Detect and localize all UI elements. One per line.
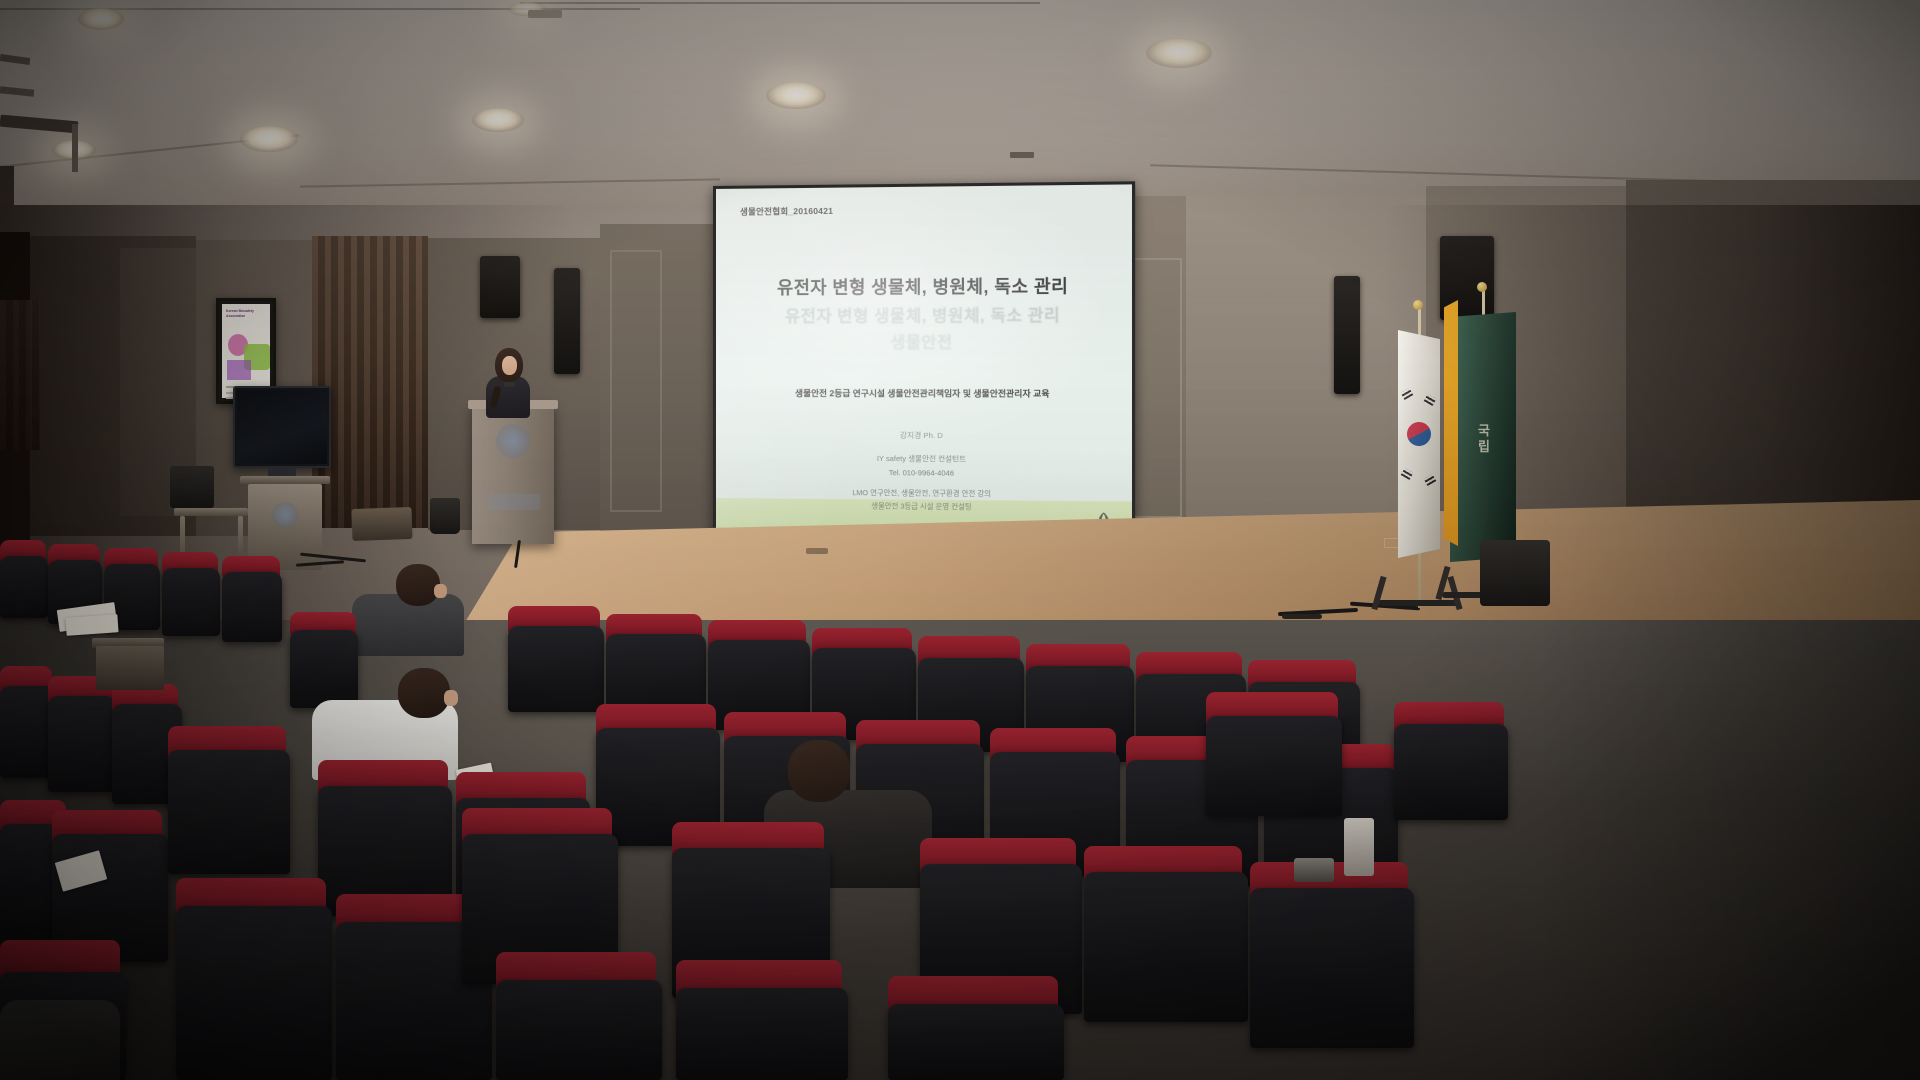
seat-back bbox=[48, 696, 116, 792]
audience-head bbox=[788, 740, 850, 802]
seat-back bbox=[1206, 716, 1342, 816]
right-equipment bbox=[1480, 540, 1550, 606]
equipment-case bbox=[351, 507, 412, 541]
seat-back bbox=[1250, 888, 1414, 1048]
organization-flag-finial bbox=[1477, 282, 1487, 292]
slide-title: 유전자 변형 생물체, 병원체, 독소 관리 bbox=[716, 273, 1132, 300]
podium-plaque bbox=[488, 494, 540, 510]
slide-telephone: Tel. 010-9964-4046 bbox=[716, 467, 1132, 479]
seat-back bbox=[162, 568, 220, 636]
side-table bbox=[238, 516, 243, 560]
slide-presenter: 강지경 Ph. D bbox=[716, 429, 1132, 442]
organization-flag: 국 립 bbox=[1450, 312, 1516, 562]
side-table bbox=[174, 508, 248, 516]
slide-content: 생물안전협회_20160421 유전자 변형 생물체, 병원체, 독소 관리 유… bbox=[716, 184, 1132, 546]
ceiling-light bbox=[766, 82, 826, 109]
equipment-box bbox=[170, 466, 214, 508]
handheld-device bbox=[1294, 858, 1334, 882]
monitor-cart bbox=[240, 476, 330, 484]
writing-surface bbox=[96, 646, 164, 690]
paper-sheet bbox=[65, 614, 118, 636]
slide-subtitle: 생물안전 2등급 연구시설 생물안전관리책임자 및 생물안전관리자 교육 bbox=[716, 387, 1132, 400]
slide-title-ghost-2: 유전자 변형 생물체, 병원체, 독소 관리 bbox=[716, 301, 1132, 327]
slide-organization: IY safety 생물안전 컨설턴트 bbox=[716, 452, 1132, 466]
seat-back bbox=[508, 626, 604, 712]
organization-flag-fringe bbox=[1444, 300, 1458, 546]
ceiling-light bbox=[240, 126, 298, 152]
audience-face bbox=[434, 584, 447, 598]
paper-card bbox=[1344, 818, 1374, 876]
ceiling-light bbox=[1146, 38, 1212, 68]
microphone bbox=[504, 382, 515, 387]
ceiling-light bbox=[472, 108, 524, 132]
seat-back bbox=[222, 572, 282, 642]
side-monitor bbox=[233, 386, 331, 468]
projection-screen: 생물안전협회_20160421 유전자 변형 생물체, 병원체, 독소 관리 유… bbox=[713, 181, 1135, 550]
seat-back bbox=[1394, 724, 1508, 820]
seat-back bbox=[0, 556, 48, 618]
korean-national-flag bbox=[1398, 330, 1440, 558]
korean-flag-stand bbox=[1378, 600, 1458, 606]
seat-back bbox=[168, 750, 290, 874]
slide-title-ghost-3: 생물안전 bbox=[716, 328, 1132, 353]
ceiling-light bbox=[78, 8, 124, 30]
seat-back bbox=[496, 980, 662, 1080]
lecture-hall-photograph: Korean Biosafety Association 생물안전협회_2016… bbox=[0, 0, 1920, 1080]
audience-body bbox=[0, 1000, 120, 1080]
seat-back bbox=[290, 630, 358, 708]
poster-title: Korean Biosafety Association bbox=[226, 309, 266, 319]
audience-head bbox=[398, 668, 450, 718]
waste-bin bbox=[430, 498, 460, 534]
slide-header: 생물안전협회_20160421 bbox=[740, 205, 833, 218]
audience-face bbox=[444, 690, 458, 706]
seat-back bbox=[1084, 872, 1248, 1022]
korean-flag-finial bbox=[1413, 300, 1423, 310]
audience-head bbox=[396, 564, 440, 606]
seat-back bbox=[888, 1004, 1064, 1080]
seat-back bbox=[176, 906, 332, 1080]
floor-outlet bbox=[806, 548, 828, 554]
seat-back bbox=[676, 988, 848, 1080]
podium-emblem bbox=[496, 424, 530, 458]
presenter-face bbox=[502, 356, 517, 375]
